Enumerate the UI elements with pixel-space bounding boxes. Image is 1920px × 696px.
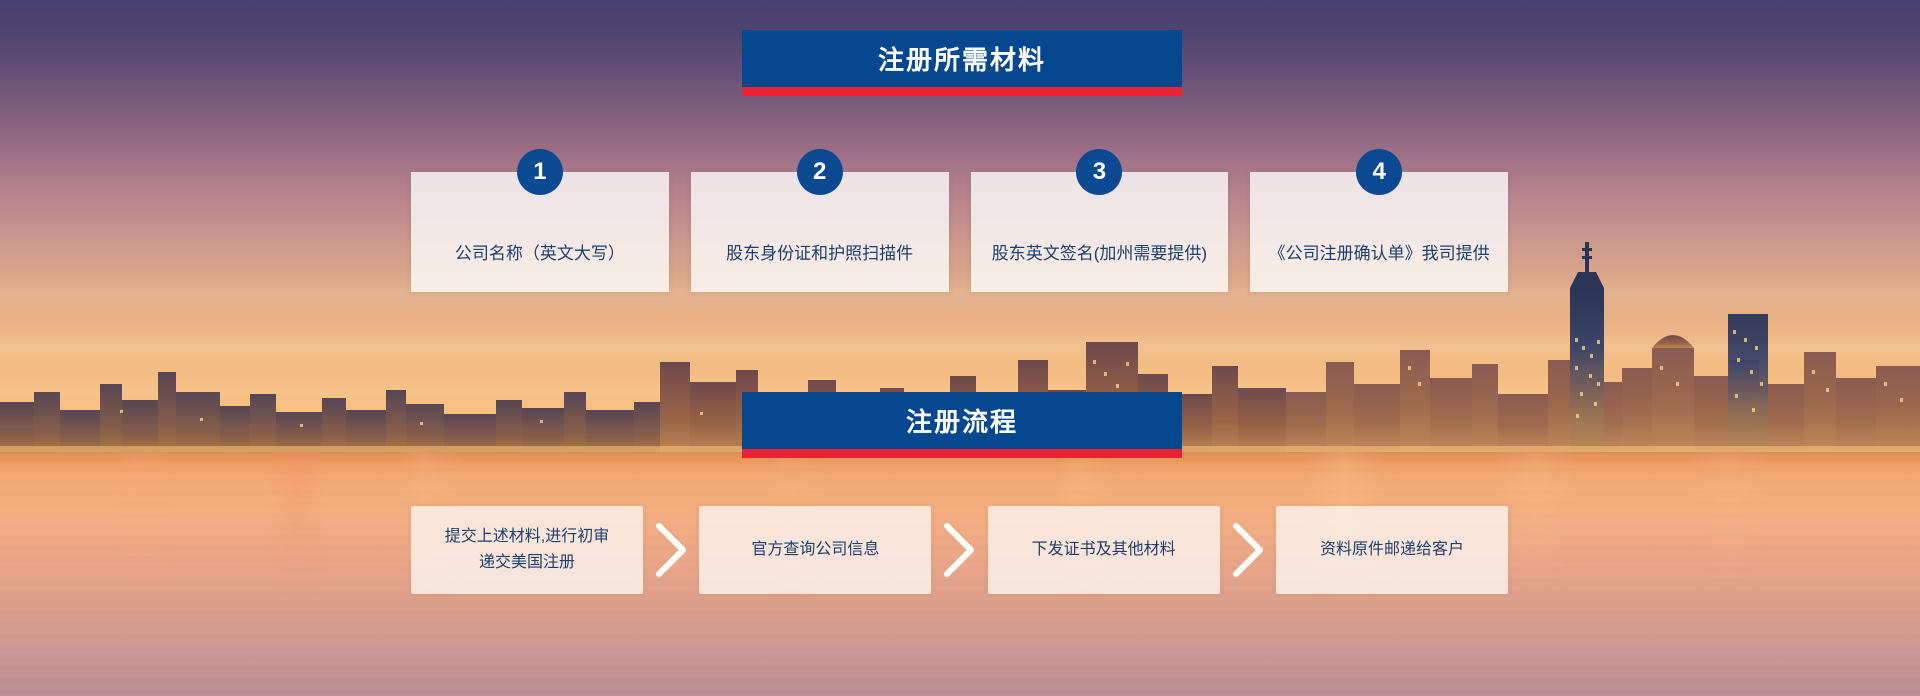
process-step-4[interactable]: 资料原件邮递给客户 <box>1276 506 1508 594</box>
process-arrow-3 <box>1220 520 1276 580</box>
material-card-4[interactable]: 4 《公司注册确认单》我司提供 <box>1250 172 1508 292</box>
material-card-3-label: 股东英文签名(加州需要提供) <box>992 242 1207 266</box>
process-step-2-label: 官方查询公司信息 <box>751 537 879 563</box>
process-step-1-line2: 递交美国注册 <box>445 550 609 576</box>
process-step-3-line1: 下发证书及其他材料 <box>1032 537 1176 563</box>
material-badge-1: 1 <box>517 149 563 195</box>
process-step-3[interactable]: 下发证书及其他材料 <box>988 506 1220 594</box>
chevron-right-icon <box>650 520 692 580</box>
material-card-1[interactable]: 1 公司名称（英文大写） <box>411 172 669 292</box>
process-step-4-line1: 资料原件邮递给客户 <box>1320 537 1464 563</box>
material-badge-2: 2 <box>797 149 843 195</box>
material-card-2-label: 股东身份证和护照扫描件 <box>726 242 913 266</box>
material-card-4-label: 《公司注册确认单》我司提供 <box>1269 242 1490 266</box>
material-badge-4: 4 <box>1356 149 1402 195</box>
process-step-1-line1: 提交上述材料,进行初审 <box>445 524 609 550</box>
process-banner-label: 注册流程 <box>742 392 1182 449</box>
process-arrow-1 <box>643 520 699 580</box>
chevron-right-icon <box>938 520 980 580</box>
chevron-right-icon <box>1227 520 1269 580</box>
process-flow-list: 提交上述材料,进行初审 递交美国注册 官方查询公司信息 <box>411 506 1508 594</box>
process-step-4-label: 资料原件邮递给客户 <box>1320 537 1464 563</box>
materials-card-list: 1 公司名称（英文大写） 2 股东身份证和护照扫描件 3 股东英文签名(加州需要… <box>411 172 1508 292</box>
materials-banner-label: 注册所需材料 <box>742 30 1182 87</box>
material-card-3[interactable]: 3 股东英文签名(加州需要提供) <box>971 172 1229 292</box>
process-arrow-2 <box>931 520 987 580</box>
materials-section-banner: 注册所需材料 <box>742 30 1182 96</box>
process-banner-underline <box>742 449 1182 458</box>
process-step-2-line1: 官方查询公司信息 <box>751 537 879 563</box>
material-card-1-label: 公司名称（英文大写） <box>455 242 625 266</box>
process-section-banner: 注册流程 <box>742 392 1182 458</box>
material-badge-3: 3 <box>1076 149 1122 195</box>
materials-banner-underline <box>742 87 1182 96</box>
page-root: 注册所需材料 1 公司名称（英文大写） 2 股东身份证和护照扫描件 3 股东英文… <box>0 0 1920 696</box>
process-step-1-label: 提交上述材料,进行初审 递交美国注册 <box>445 524 609 575</box>
process-step-1[interactable]: 提交上述材料,进行初审 递交美国注册 <box>411 506 643 594</box>
process-step-2[interactable]: 官方查询公司信息 <box>699 506 931 594</box>
process-step-3-label: 下发证书及其他材料 <box>1032 537 1176 563</box>
material-card-2[interactable]: 2 股东身份证和护照扫描件 <box>691 172 949 292</box>
